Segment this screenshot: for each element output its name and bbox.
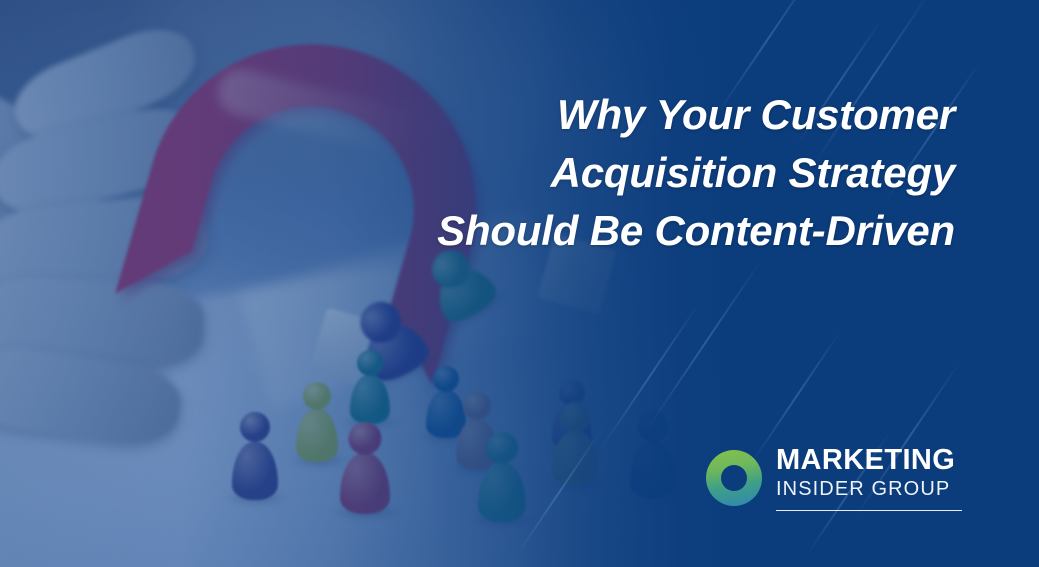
ring-logo-icon bbox=[706, 450, 762, 506]
brand-name-primary: MARKETING bbox=[776, 444, 958, 477]
logo-underline bbox=[776, 510, 962, 511]
brand-logo[interactable]: MARKETING INSIDER GROUP bbox=[706, 444, 958, 516]
title-line-2: Acquisition Strategy bbox=[335, 144, 955, 202]
brand-name-secondary: INSIDER GROUP bbox=[776, 477, 958, 501]
page-title: Why Your Customer Acquisition Strategy S… bbox=[335, 86, 955, 260]
title-line-1: Why Your Customer bbox=[335, 86, 955, 144]
title-line-3: Should Be Content-Driven bbox=[335, 202, 955, 260]
brand-logo-text: MARKETING INSIDER GROUP bbox=[776, 444, 958, 501]
ring-logo-hole bbox=[721, 465, 747, 491]
blog-hero-banner: Why Your Customer Acquisition Strategy S… bbox=[0, 0, 1039, 567]
